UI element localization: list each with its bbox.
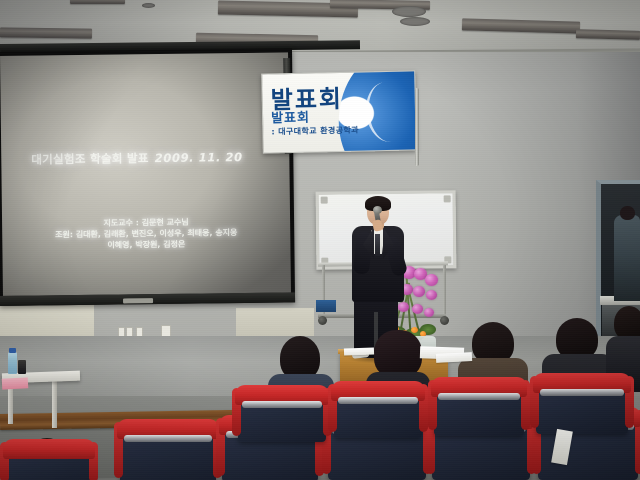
side-table-leg <box>52 380 57 428</box>
auditorium-seat[interactable] <box>334 390 422 438</box>
projection-screen-surface: 대기실험조 학술회 발표2009. 11. 20 지도교수 : 김문현 교수님 … <box>0 52 291 296</box>
orchid-bloom <box>413 286 425 297</box>
microphone-head <box>373 206 382 214</box>
seat-chrome-trim <box>338 397 418 404</box>
orchid-bloom <box>426 290 437 300</box>
attendee-head <box>374 330 422 378</box>
orchid-bloom <box>412 304 423 314</box>
auditorium-seat[interactable] <box>238 394 326 442</box>
pink-paper-on-table[interactable] <box>2 377 29 389</box>
banner-subhead: 발표회 <box>271 107 310 127</box>
seat-headrest <box>3 439 95 459</box>
orchid-bloom <box>398 302 409 312</box>
screen-vignette <box>0 52 291 296</box>
water-bottle-cap <box>9 348 16 353</box>
whiteboard-lower-panel <box>316 300 336 312</box>
auditorium-seat[interactable] <box>120 428 216 480</box>
whiteboard-corner-bracket <box>444 195 451 202</box>
wall-pipe <box>415 88 419 166</box>
wall-banner: 발표회 발표회 : 대구대학교 환경공학과 <box>261 70 417 153</box>
auditorium-seat[interactable] <box>6 448 92 480</box>
lecture-hall-photo: 대기실험조 학술회 발표2009. 11. 20 지도교수 : 김문현 교수님 … <box>0 0 640 480</box>
banner-department: : 대구대학교 환경공학과 <box>271 125 359 138</box>
screen-pull-handle[interactable] <box>123 298 153 303</box>
paper-on-table[interactable] <box>344 347 374 355</box>
attendee-head <box>614 306 640 340</box>
accent-flower <box>411 327 418 333</box>
paper-on-table[interactable] <box>436 352 472 363</box>
water-bottle[interactable] <box>8 352 17 374</box>
person-in-doorway <box>614 215 640 301</box>
presenter-tie <box>375 234 380 256</box>
dark-object-on-table[interactable] <box>18 360 26 374</box>
seat-chrome-trim <box>540 389 624 396</box>
whiteboard-caster <box>318 316 327 325</box>
whiteboard-corner-bracket <box>321 197 328 204</box>
whiteboard-stand-leg <box>443 265 446 317</box>
projection-screen: 대기실험조 학술회 발표2009. 11. 20 지도교수 : 김문현 교수님 … <box>0 48 295 306</box>
auditorium-seat[interactable] <box>536 382 628 434</box>
seat-chrome-trim <box>242 401 322 408</box>
whiteboard-caster <box>440 316 449 325</box>
person-in-doorway-head <box>620 206 635 220</box>
auditorium-seat[interactable] <box>434 386 524 436</box>
orchid-bloom <box>424 308 434 317</box>
orchid-bloom <box>425 274 438 286</box>
seat-chrome-trim <box>438 393 520 400</box>
seat-chrome-trim <box>124 435 212 442</box>
